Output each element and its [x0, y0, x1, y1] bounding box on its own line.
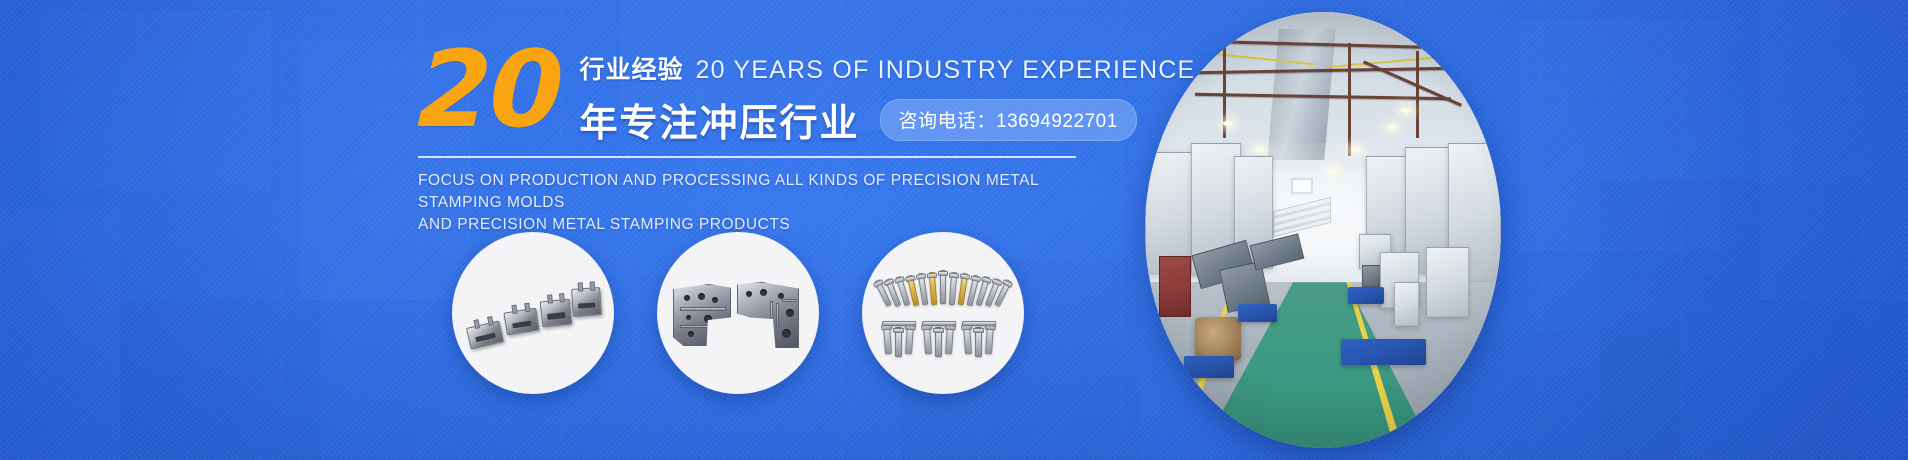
- terminal-strip: [975, 327, 982, 357]
- terminal-strip: [985, 324, 994, 354]
- terminal-carrier-strip: [922, 321, 956, 326]
- terminal-pin: [949, 271, 957, 304]
- headline-en-small: 20 YEARS OF INDUSTRY EXPERIENCE: [696, 56, 1196, 85]
- terminal-strip: [923, 324, 932, 354]
- terminal-carrier-strip: [882, 321, 916, 326]
- subtitle-block: FOCUS ON PRODUCTION AND PROCESSING ALL K…: [418, 170, 1098, 236]
- terminal-pin: [940, 270, 946, 304]
- terminal-carrier-strip: [962, 321, 996, 326]
- terminal-strip: [895, 327, 902, 357]
- terminal-strip: [935, 327, 942, 357]
- terminal-strip: [905, 324, 914, 354]
- product-circle-metal-terminals: [862, 232, 1024, 394]
- terminal-pin: [929, 271, 937, 304]
- headline-line-2: 年专注冲压行业 咨询电话：13694922701: [580, 92, 1196, 147]
- terminal-strip: [963, 324, 972, 354]
- headline-cn-big: 年专注冲压行业: [580, 92, 860, 147]
- headline-divider: [418, 156, 1076, 158]
- terminal-strip: [883, 324, 892, 354]
- terminal-strip: [945, 324, 954, 354]
- headline-line-1: 行业经验 20 YEARS OF INDUSTRY EXPERIENCE: [580, 50, 1196, 86]
- subtitle-line-1: FOCUS ON PRODUCTION AND PROCESSING ALL K…: [418, 170, 1098, 214]
- product-circle-usb-connector-shells: [452, 232, 614, 394]
- headline-row: 20 行业经验 20 YEARS OF INDUSTRY EXPERIENCE …: [418, 44, 1195, 147]
- headline-text: 行业经验 20 YEARS OF INDUSTRY EXPERIENCE 年专注…: [580, 44, 1196, 147]
- years-number: 20: [416, 44, 563, 135]
- product-circle-stamping-die: [657, 232, 819, 394]
- promo-banner: 20 行业经验 20 YEARS OF INDUSTRY EXPERIENCE …: [0, 0, 1908, 460]
- factory-workshop-photo: [1145, 12, 1501, 448]
- headline-cn-small: 行业经验: [580, 50, 684, 86]
- phone-badge[interactable]: 咨询电话：13694922701: [880, 99, 1137, 141]
